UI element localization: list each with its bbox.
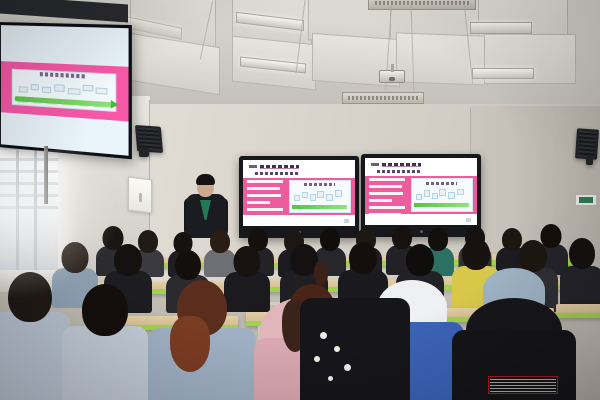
speaker-left-bracket [139, 148, 149, 157]
ponytail [170, 316, 210, 372]
light-panel [470, 22, 532, 34]
air-vent [368, 0, 476, 10]
slide-text-lines [247, 180, 284, 213]
slide-text-lines [369, 178, 406, 212]
window [0, 150, 58, 270]
slide-right [365, 158, 477, 225]
projection-screen-surface [1, 25, 129, 156]
slide-subheading [377, 169, 420, 173]
slide-diagram-timeline [414, 203, 469, 207]
presenter-hair [196, 174, 215, 185]
slide-diagram [289, 180, 351, 213]
list-item [300, 298, 410, 400]
speaker-right-bracket [586, 155, 593, 165]
slide-page-number [466, 218, 471, 222]
list-item [452, 268, 576, 400]
tv-left-panel [243, 160, 355, 226]
slide-diagram-title [13, 71, 115, 81]
screen-support-pole [44, 146, 48, 204]
status-sign-screen [579, 197, 593, 203]
projector [379, 70, 405, 83]
lecture-hall-photo [0, 0, 600, 400]
floral-print [328, 376, 333, 381]
presenter [186, 176, 226, 238]
projection-screen[interactable] [0, 22, 132, 159]
slide-diagram-heading [304, 183, 335, 186]
air-vent [342, 92, 424, 104]
slide-left [243, 160, 355, 226]
slide-diagram-timeline [292, 205, 347, 209]
floral-print [320, 332, 327, 339]
light-panel [472, 68, 534, 79]
projector-mount [391, 64, 394, 72]
ponytail [314, 262, 328, 286]
list-item [148, 280, 256, 400]
slide-diagram-heading [426, 182, 457, 185]
slide-heading [249, 164, 299, 169]
slide-heading [371, 162, 421, 167]
list-item [0, 272, 70, 400]
control-panel-latch[interactable] [139, 193, 142, 202]
hoodie-patch [488, 376, 558, 394]
tv-right[interactable] [361, 154, 481, 237]
floral-print [334, 346, 340, 352]
projector-lens [389, 77, 395, 81]
tv-left[interactable] [239, 156, 359, 238]
slide-diagram-box [12, 68, 117, 111]
control-panel[interactable] [128, 177, 152, 214]
slide-diagram [411, 178, 473, 212]
slide-page-number [344, 219, 349, 223]
tv-right-panel [365, 158, 477, 225]
list-item [62, 284, 148, 400]
floral-print [314, 356, 320, 362]
slide-subheading [255, 171, 298, 175]
floral-print [344, 364, 351, 371]
status-sign [575, 194, 597, 206]
